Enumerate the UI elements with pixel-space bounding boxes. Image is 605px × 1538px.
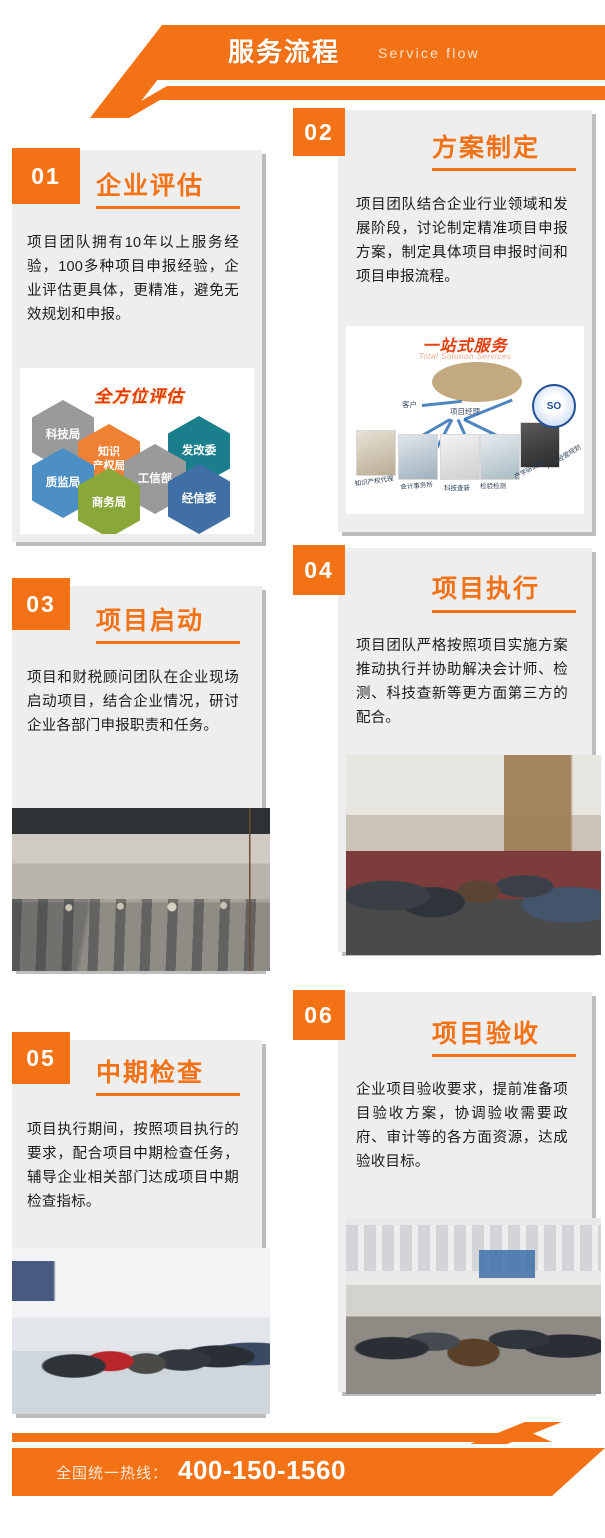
meeting-laptops-photo [346,755,601,955]
step-title-04: 项目执行 [432,569,540,605]
step-title-01: 企业评估 [96,166,204,202]
hex-diagram-title: 全方位评估 [94,382,184,407]
page-title: 服务流程 [228,34,340,70]
service-flow-poster: 服务流程 Service flow 01 企业评估 项目团队拥有10年以上服务经… [0,0,605,1538]
step-title-rule-03 [96,641,240,644]
hexagon-assessment-diagram: 全方位评估 科技局 知识产权局 发改委 质监局 工信部 商务局 经信委 [20,368,254,534]
step-number-badge-02: 02 [293,108,345,156]
step-number-badge-05: 05 [12,1032,70,1084]
step-title-rule-05 [96,1093,240,1096]
step-body-04: 项目团队严格按照项目实施方案推动执行并协助解决会计师、检测、科技查新等更方面第三… [356,634,568,730]
showroom-visit-photo [12,1248,270,1414]
step-body-06: 企业项目验收要求，提前准备项目验收方案，协调验收需要政府、审计等的各方面资源，达… [356,1078,568,1174]
service-bottom-label-2: 科技查新 [444,482,470,492]
step-number-badge-01: 01 [12,148,80,204]
service-bottom-label-3: 检验检测 [480,480,506,490]
service-diagram-subtitle: Total Solution Services [346,352,584,361]
page-header: 服务流程 Service flow [0,0,605,118]
step-body-03: 项目和财税顾问团队在企业现场启动项目，结合企业情况，研讨企业各部门申报职责和任务… [27,666,239,738]
service-node-2 [440,434,480,480]
footer-top-stripe [12,1433,552,1442]
footer-hotline-number: 400-150-1560 [178,1455,346,1486]
one-stop-service-diagram: 一站式服务 Total Solution Services 客户 项目经理 SO… [346,326,584,514]
footer-hotline-label: 全国统一热线： [56,1462,168,1483]
step-title-rule-04 [432,610,576,613]
service-quality-seal: SO [532,384,576,428]
service-node-1 [398,434,438,480]
step-body-05: 项目执行期间，按照项目执行的要求，配合项目中期检查任务，辅导企业相关部门达成项目… [27,1118,239,1214]
conference-room-photo [12,808,270,971]
service-bottom-label-1: 会计事务所 [400,479,433,491]
step-title-rule-01 [96,206,240,209]
step-title-02: 方案制定 [432,128,540,164]
step-body-02: 项目团队结合企业行业领域和发展阶段，讨论制定精准项目申报方案，制定具体项目申报时… [356,193,568,289]
service-label-client: 客户 [402,399,417,410]
service-center-photo [432,362,522,402]
step-number-badge-06: 06 [293,990,345,1040]
header-banner-bar [148,25,605,80]
step-title-03: 项目启动 [96,601,204,637]
step-title-rule-02 [432,168,576,171]
step-title-05: 中期检查 [96,1053,204,1089]
step-number-badge-03: 03 [12,578,70,630]
page-subtitle: Service flow [378,42,480,64]
step-number-badge-04: 04 [293,545,345,595]
step-title-06: 项目验收 [432,1014,540,1050]
header-underbar [160,86,605,100]
step-title-rule-06 [432,1054,576,1057]
service-node-0 [356,430,396,476]
boardroom-photo [346,1218,601,1394]
step-body-01: 项目团队拥有10年以上服务经验，100多种项目申报经验，企业评估更具体，更精准，… [27,231,239,327]
